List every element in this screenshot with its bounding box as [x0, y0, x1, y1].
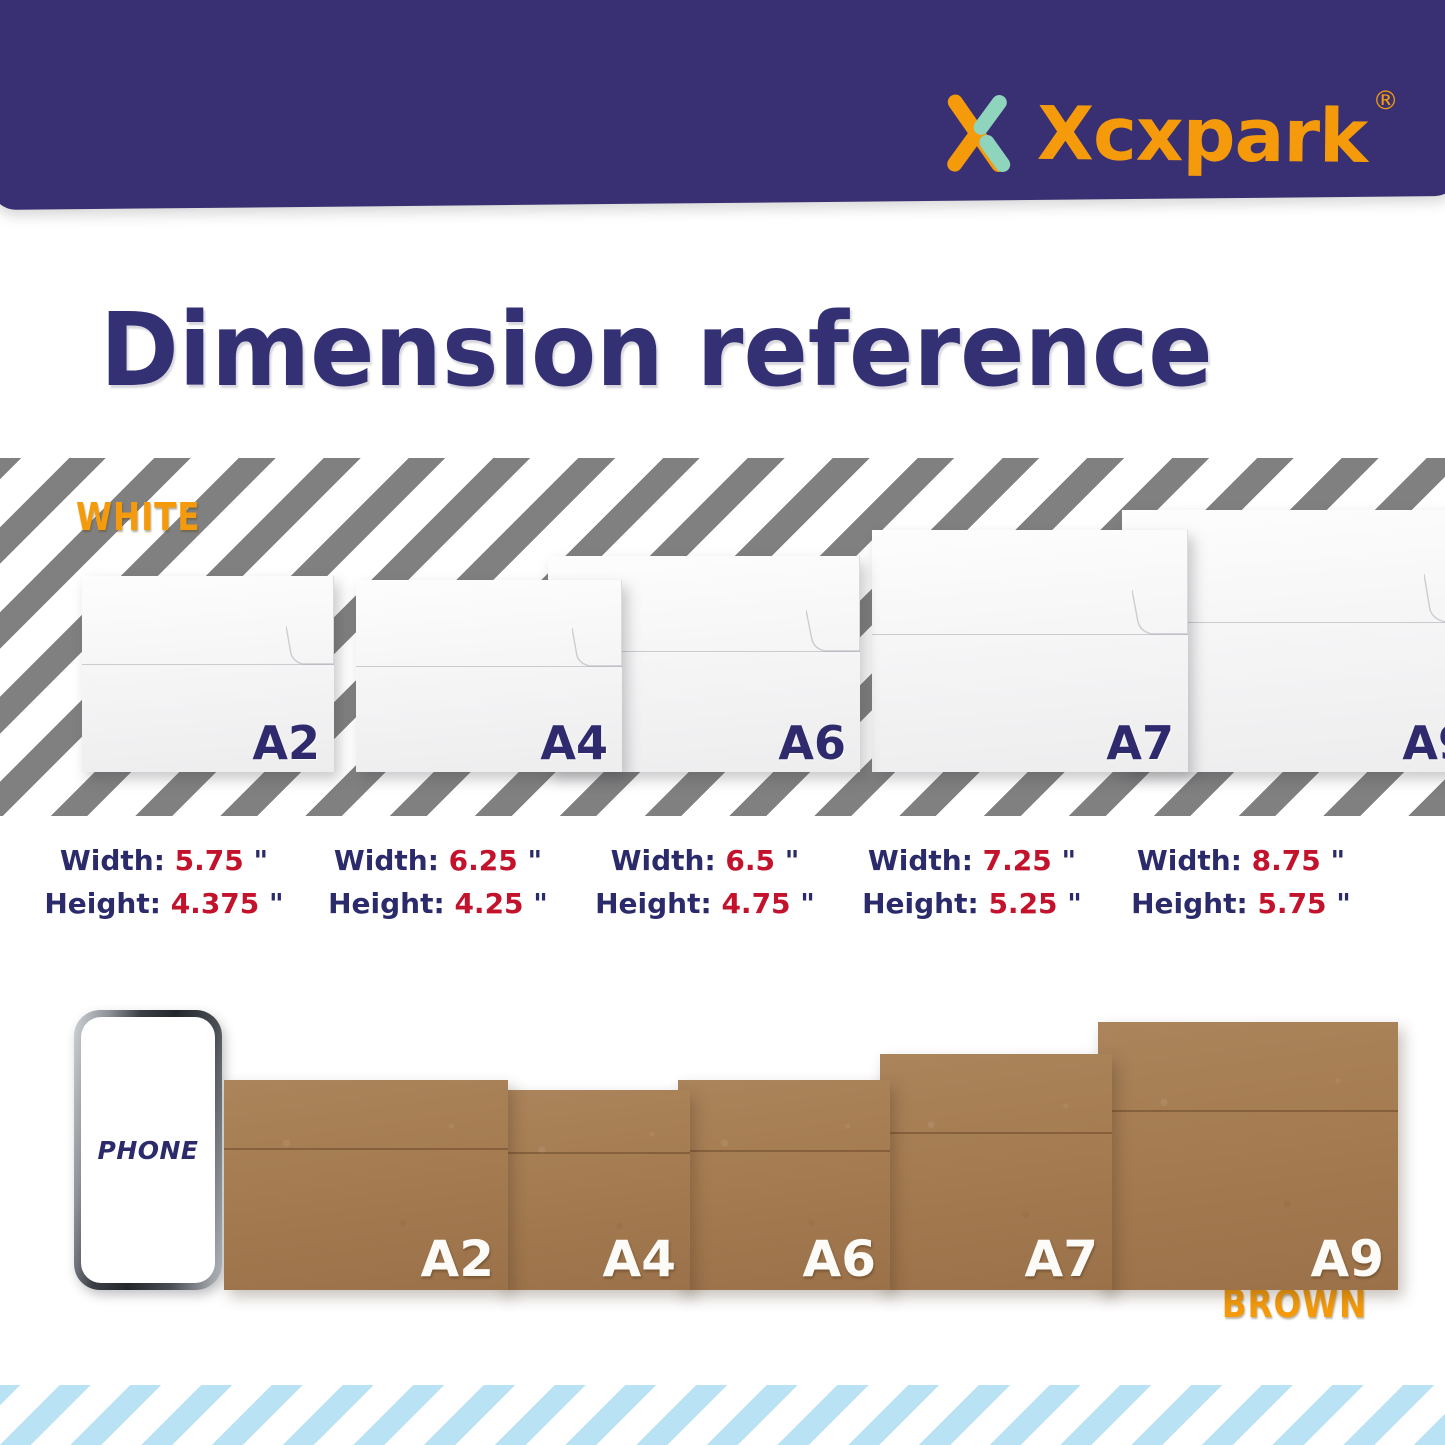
brand-logo: Xcxpark ®: [946, 94, 1367, 176]
height-row: Height: 5.25 ": [838, 883, 1106, 926]
inch-unit: ": [533, 887, 548, 920]
envelope-code-label: A7: [1025, 1234, 1099, 1284]
phone-device: PHONE: [74, 1010, 222, 1290]
height-value: 4.25: [454, 887, 523, 920]
brown-envelope-a4: A4: [500, 1090, 690, 1290]
envelope-code-label: A2: [252, 720, 320, 766]
phone-screen: PHONE: [81, 1017, 215, 1283]
width-label: Width:: [1137, 844, 1242, 877]
x-mark-icon: [946, 94, 1019, 173]
height-value: 4.375: [171, 887, 260, 920]
envelope-flap-line: [880, 1132, 1112, 1134]
dimension-column-a4: Width: 6.25 " Height: 4.25 ": [304, 840, 572, 925]
height-row: Height: 5.75 ": [1106, 883, 1376, 926]
width-value: 5.75: [175, 844, 244, 877]
inch-unit: ": [269, 887, 284, 920]
inch-unit: ": [254, 844, 269, 877]
envelope-flap-line: [500, 1152, 690, 1154]
brown-envelope-a9: A9: [1098, 1022, 1398, 1290]
brand-wordmark: Xcxpark ®: [1036, 97, 1367, 174]
inch-unit: ": [1336, 887, 1351, 920]
inch-unit: ": [800, 887, 815, 920]
width-label: Width:: [611, 844, 716, 877]
height-label: Height:: [862, 887, 979, 920]
height-row: Height: 4.75 ": [572, 883, 838, 926]
envelope-code-label: A7: [1106, 720, 1174, 766]
inch-unit: ": [1062, 844, 1077, 877]
envelope-code-label: A4: [603, 1234, 677, 1284]
brown-envelope-a6: A6: [678, 1080, 890, 1290]
envelope-code-label: A4: [540, 720, 608, 766]
envelope-code-label: A6: [803, 1234, 877, 1284]
height-label: Height:: [595, 887, 712, 920]
height-label: Height:: [44, 887, 161, 920]
brown-envelope-a7: A7: [880, 1054, 1112, 1290]
width-value: 6.25: [449, 844, 518, 877]
white-envelope-a2: A2: [82, 576, 334, 772]
white-envelope-a7: A7: [872, 530, 1188, 772]
inch-unit: ": [1067, 887, 1082, 920]
phone-label: PHONE: [98, 1136, 199, 1165]
white-section-label: WHITE: [76, 495, 200, 539]
width-value: 7.25: [983, 844, 1052, 877]
envelope-flap-line: [224, 1148, 508, 1150]
height-value: 5.25: [988, 887, 1057, 920]
width-row: Width: 8.75 ": [1106, 840, 1376, 883]
height-value: 4.75: [721, 887, 790, 920]
dimension-rows: Width: 5.75 " Height: 4.375 " Width: 6.2…: [0, 840, 1445, 925]
brand-name-text: Xcxpark: [1036, 91, 1367, 180]
height-row: Height: 4.375 ": [24, 883, 304, 926]
bottom-striped-band: [0, 1385, 1445, 1445]
height-value: 5.75: [1257, 887, 1326, 920]
width-value: 6.5: [725, 844, 775, 877]
width-row: Width: 6.25 ": [304, 840, 572, 883]
registered-trademark-icon: ®: [1372, 88, 1397, 114]
envelope-flap-line: [1098, 1110, 1398, 1112]
dimension-column-a9: Width: 8.75 " Height: 5.75 ": [1106, 840, 1376, 925]
width-row: Width: 5.75 ": [24, 840, 304, 883]
height-row: Height: 4.25 ": [304, 883, 572, 926]
width-label: Width:: [60, 844, 165, 877]
envelope-code-label: A2: [421, 1234, 495, 1284]
inch-unit: ": [785, 844, 800, 877]
envelope-code-label: A9: [1311, 1234, 1385, 1284]
white-envelope-a4: A4: [356, 580, 622, 772]
dimension-column-a6: Width: 6.5 " Height: 4.75 ": [572, 840, 838, 925]
width-value: 8.75: [1252, 844, 1321, 877]
width-label: Width:: [868, 844, 973, 877]
inch-unit: ": [1331, 844, 1346, 877]
envelope-flap-line: [678, 1150, 890, 1152]
page-title: Dimension reference: [100, 300, 1213, 402]
height-label: Height:: [1131, 887, 1248, 920]
brown-envelope-a2: A2: [224, 1080, 508, 1290]
envelope-code-label: A6: [778, 720, 846, 766]
inch-unit: ": [528, 844, 543, 877]
dimension-column-a2: Width: 5.75 " Height: 4.375 ": [24, 840, 304, 925]
envelope-code-label: A9: [1402, 720, 1445, 766]
height-label: Height:: [328, 887, 445, 920]
width-row: Width: 7.25 ": [838, 840, 1106, 883]
dimension-column-a7: Width: 7.25 " Height: 5.25 ": [838, 840, 1106, 925]
width-row: Width: 6.5 ": [572, 840, 838, 883]
width-label: Width:: [334, 844, 439, 877]
